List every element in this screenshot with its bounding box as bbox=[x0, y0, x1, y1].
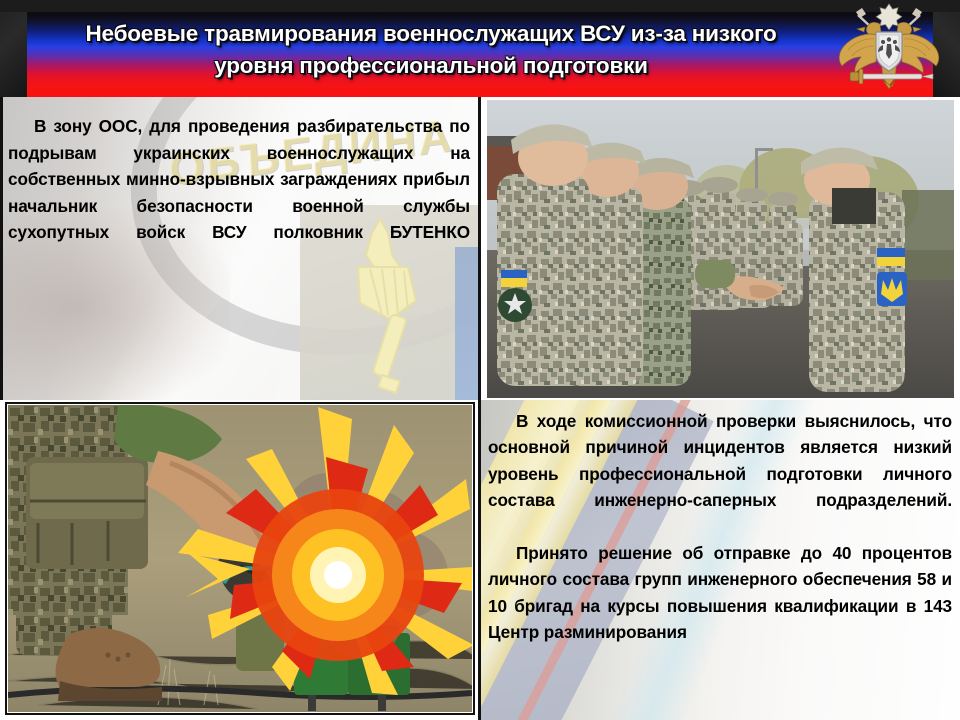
page-title: Небоевые травмирования военнослужащих ВС… bbox=[36, 18, 826, 82]
photo-bottom-left-frame bbox=[5, 402, 475, 715]
slide-root: Небоевые травмирования военнослужащих ВС… bbox=[0, 0, 960, 720]
photo-officers-handshake bbox=[487, 100, 954, 398]
banner-bevel-left bbox=[0, 0, 27, 97]
divider-left-vertical bbox=[0, 97, 3, 400]
panel-top-left: ОБЪЕДИНА bbox=[0, 97, 480, 400]
banner-bevel-top bbox=[0, 0, 960, 12]
bottom-right-paragraph-2: Принято решение об отправке до 40 процен… bbox=[488, 540, 952, 646]
divider-center-vertical-bottom bbox=[478, 402, 481, 720]
panel-bottom-right: В ходе комиссионной проверки выяснилось,… bbox=[480, 400, 960, 720]
double-headed-eagle-icon bbox=[834, 2, 944, 96]
divider-center-vertical-top bbox=[478, 97, 481, 402]
header-banner: Небоевые травмирования военнослужащих ВС… bbox=[0, 0, 960, 97]
content-area: ОБЪЕДИНА bbox=[0, 97, 960, 720]
top-left-body-text: В зону ООС, для проведения разбирательст… bbox=[8, 113, 470, 273]
bottom-right-paragraph-1: В ходе комиссионной проверки выяснилось,… bbox=[488, 408, 952, 540]
bottom-right-body-text: В ходе комиссионной проверки выяснилось,… bbox=[488, 408, 952, 646]
